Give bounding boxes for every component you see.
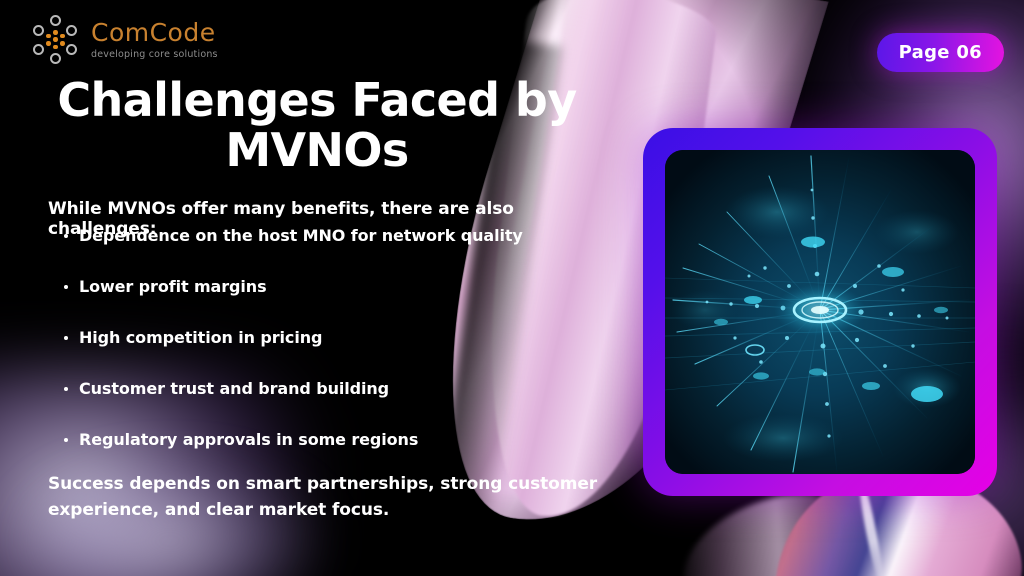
network-illustration bbox=[665, 150, 975, 474]
bullet-dot-icon bbox=[64, 438, 68, 442]
list-item: Regulatory approvals in some regions bbox=[64, 430, 624, 449]
brand-name: ComCode bbox=[91, 20, 218, 45]
image-card-frame bbox=[643, 128, 997, 496]
brand-logo-text: ComCode developing core solutions bbox=[91, 20, 218, 60]
list-item: High competition in pricing bbox=[64, 328, 624, 347]
bullet-dot-icon bbox=[64, 234, 68, 238]
challenges-list: Dependence on the host MNO for network q… bbox=[64, 226, 624, 481]
list-item: Dependence on the host MNO for network q… bbox=[64, 226, 624, 245]
brand-tagline: developing core solutions bbox=[91, 50, 218, 60]
brand-logo[interactable]: ComCode developing core solutions bbox=[30, 14, 218, 66]
list-item-label: Dependence on the host MNO for network q… bbox=[79, 226, 523, 245]
list-item: Customer trust and brand building bbox=[64, 379, 624, 398]
list-item: Lower profit margins bbox=[64, 277, 624, 296]
comcode-dots-logo-icon bbox=[30, 14, 82, 66]
bullet-dot-icon bbox=[64, 336, 68, 340]
page-title: Challenges Faced by MVNOs bbox=[52, 76, 582, 175]
network-graphic-icon bbox=[665, 150, 975, 474]
list-item-label: Customer trust and brand building bbox=[79, 379, 389, 398]
list-item-label: Regulatory approvals in some regions bbox=[79, 430, 418, 449]
bullet-dot-icon bbox=[64, 285, 68, 289]
closing-text: Success depends on smart partnerships, s… bbox=[48, 472, 608, 523]
page-number-badge[interactable]: Page 06 bbox=[877, 33, 1004, 72]
bullet-dot-icon bbox=[64, 387, 68, 391]
list-item-label: High competition in pricing bbox=[79, 328, 322, 347]
slide-canvas: ComCode developing core solutions Page 0… bbox=[0, 0, 1024, 576]
list-item-label: Lower profit margins bbox=[79, 277, 267, 296]
